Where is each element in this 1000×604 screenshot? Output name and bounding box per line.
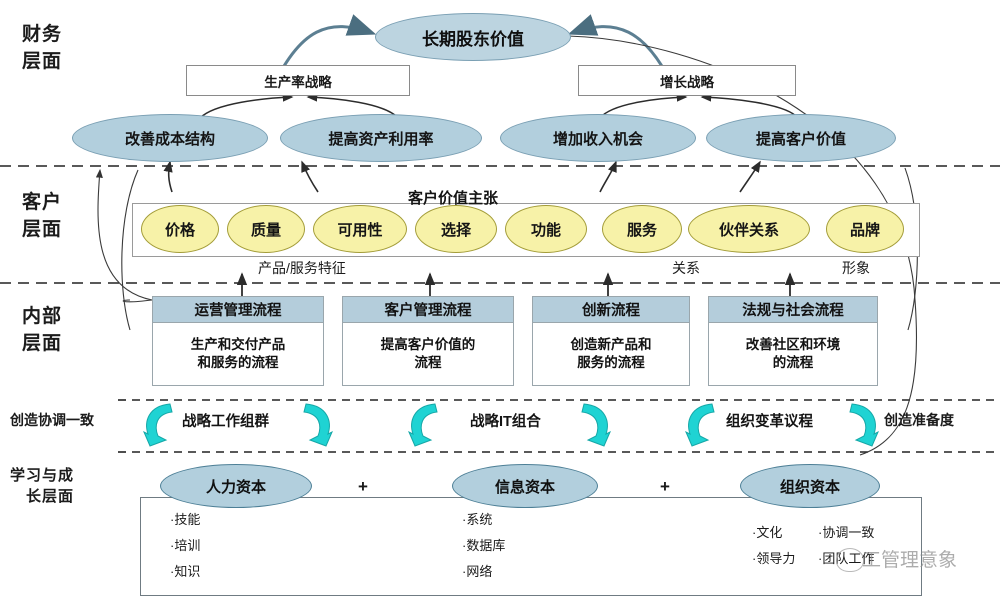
capital-human-items: ·技能 ·培训 ·知识 [170,507,200,585]
curl-arrow-icon-5 [682,398,718,454]
process-desc-line2: 的流程 [773,355,814,370]
plus-sign-1: + [358,477,368,497]
objective-increase-asset-utilization[interactable]: 提高资产利用率 [280,114,482,162]
capital-organization-items-col1: ·文化 ·领导力 [752,520,795,572]
cvp-caption-product-service-attributes: 产品/服务特征 [258,258,346,278]
layer-label-learning: 学习与成 长层面 [10,465,74,508]
curl-arrow-icon-1 [140,398,176,454]
layer-label-internal-line2: 层面 [22,331,62,358]
curl-arrow-icon-6 [846,398,882,454]
cvp-attribute-label: 功能 [531,219,561,240]
objective-expand-revenue-opportunities[interactable]: 增加收入机会 [500,114,696,162]
alignment-item-organization-change-agenda[interactable]: 组织变革议程 [726,410,813,431]
list-item: ·知识 [170,559,200,585]
list-item: ·系统 [462,507,505,533]
process-desc-line2: 和服务的流程 [198,355,279,370]
objective-label: 提高资产利用率 [328,128,433,149]
cvp-attribute-brand[interactable]: 品牌 [826,205,904,253]
cvp-attribute-price[interactable]: 价格 [141,205,219,253]
cvp-caption-image: 形象 [842,258,870,278]
process-desc-line1: 生产和交付产品 [191,337,286,352]
process-desc-line2: 服务的流程 [577,355,645,370]
capital-organization[interactable]: 组织资本 [740,464,880,508]
layer-label-financial: 财务 层面 [22,22,62,76]
cvp-attribute-partnership[interactable]: 伙伴关系 [688,205,810,253]
cvp-attribute-quality[interactable]: 质量 [227,205,305,253]
cvp-attribute-label: 价格 [165,219,195,240]
strategy-map-canvas: 财务 层面 长期股东价值 生产率战略 增长战略 改善成本结构 提高资产利用率 增… [0,0,1000,604]
objective-long-term-shareholder-value[interactable]: 长期股东价值 [375,13,571,61]
list-item: ·培训 [170,533,200,559]
capital-human[interactable]: 人力资本 [160,464,312,508]
objective-enhance-customer-value[interactable]: 提高客户价值 [706,114,896,162]
curl-arrow-icon-3 [405,398,441,454]
curl-arrow-icon-2 [300,398,336,454]
process-customer-management[interactable]: 客户管理流程 提高客户价值的 流程 [342,296,514,386]
process-desc-line1: 改善社区和环境 [746,337,841,352]
list-item: ·技能 [170,507,200,533]
list-item: ·文化 [752,520,795,546]
cvp-attribute-availability[interactable]: 可用性 [313,205,407,253]
alignment-right-label: 创造准备度 [884,410,954,430]
process-desc-line2: 流程 [415,355,442,370]
capital-information[interactable]: 信息资本 [452,464,598,508]
process-regulatory-social[interactable]: 法规与社会流程 改善社区和环境 的流程 [708,296,878,386]
cvp-attribute-selection[interactable]: 选择 [415,205,497,253]
process-title: 运营管理流程 [153,297,323,323]
process-description: 改善社区和环境 的流程 [709,323,877,385]
strategy-box-growth[interactable]: 增长战略 [578,65,796,96]
strategy-box-productivity[interactable]: 生产率战略 [186,65,410,96]
cvp-attribute-label: 质量 [251,219,281,240]
cvp-attribute-label: 伙伴关系 [719,219,779,240]
process-desc-line1: 创造新产品和 [571,337,652,352]
list-item: ·网络 [462,559,505,585]
cvp-attribute-label: 可用性 [337,219,382,240]
objective-improve-cost-structure[interactable]: 改善成本结构 [72,114,268,162]
list-item: ·协调一致 [818,520,874,546]
cvp-attribute-label: 服务 [627,219,657,240]
process-title: 创新流程 [533,297,689,323]
process-description: 提高客户价值的 流程 [343,323,513,385]
objective-label: 长期股东价值 [422,25,524,50]
cvp-attribute-label: 品牌 [850,219,880,240]
layer-label-customer-line2: 层面 [22,217,62,244]
layer-label-learning-line2: 长层面 [26,486,74,507]
strategy-label: 生产率战略 [264,71,332,91]
layer-label-customer: 客户 层面 [22,190,62,244]
list-item: ·领导力 [752,546,795,572]
watermark-logo-icon [836,548,864,572]
cvp-attribute-functionality[interactable]: 功能 [505,205,587,253]
watermark-text: 工管理意象 [862,545,957,572]
layer-label-financial-line2: 层面 [22,49,62,76]
layer-label-customer-line1: 客户 [22,190,62,217]
process-description: 生产和交付产品 和服务的流程 [153,323,323,385]
list-item: ·数据库 [462,533,505,559]
alignment-left-label: 创造协调一致 [10,410,94,430]
capital-label: 人力资本 [206,476,266,497]
objective-label: 改善成本结构 [125,128,215,149]
process-desc-line1: 提高客户价值的 [381,337,476,352]
objective-label: 提高客户价值 [756,128,846,149]
learning-growth-frame [140,497,922,596]
capital-label: 信息资本 [495,476,555,497]
layer-label-internal: 内部 层面 [22,304,62,358]
cvp-caption-relationship: 关系 [672,258,700,278]
process-description: 创造新产品和 服务的流程 [533,323,689,385]
strategy-label: 增长战略 [660,71,714,91]
capital-information-items: ·系统 ·数据库 ·网络 [462,507,505,585]
cvp-attribute-label: 选择 [441,219,471,240]
process-operations-management[interactable]: 运营管理流程 生产和交付产品 和服务的流程 [152,296,324,386]
process-title: 法规与社会流程 [709,297,877,323]
layer-label-internal-line1: 内部 [22,304,62,331]
objective-label: 增加收入机会 [553,128,643,149]
cvp-attribute-service[interactable]: 服务 [602,205,682,253]
process-innovation[interactable]: 创新流程 创造新产品和 服务的流程 [532,296,690,386]
layer-label-learning-line1: 学习与成 [10,465,74,486]
curl-arrow-icon-4 [578,398,614,454]
alignment-item-strategic-job-families[interactable]: 战略工作组群 [182,410,269,431]
plus-sign-2: + [660,477,670,497]
layer-label-financial-line1: 财务 [22,22,62,49]
capital-label: 组织资本 [780,476,840,497]
alignment-item-strategic-it-portfolio[interactable]: 战略IT组合 [470,410,541,431]
process-title: 客户管理流程 [343,297,513,323]
